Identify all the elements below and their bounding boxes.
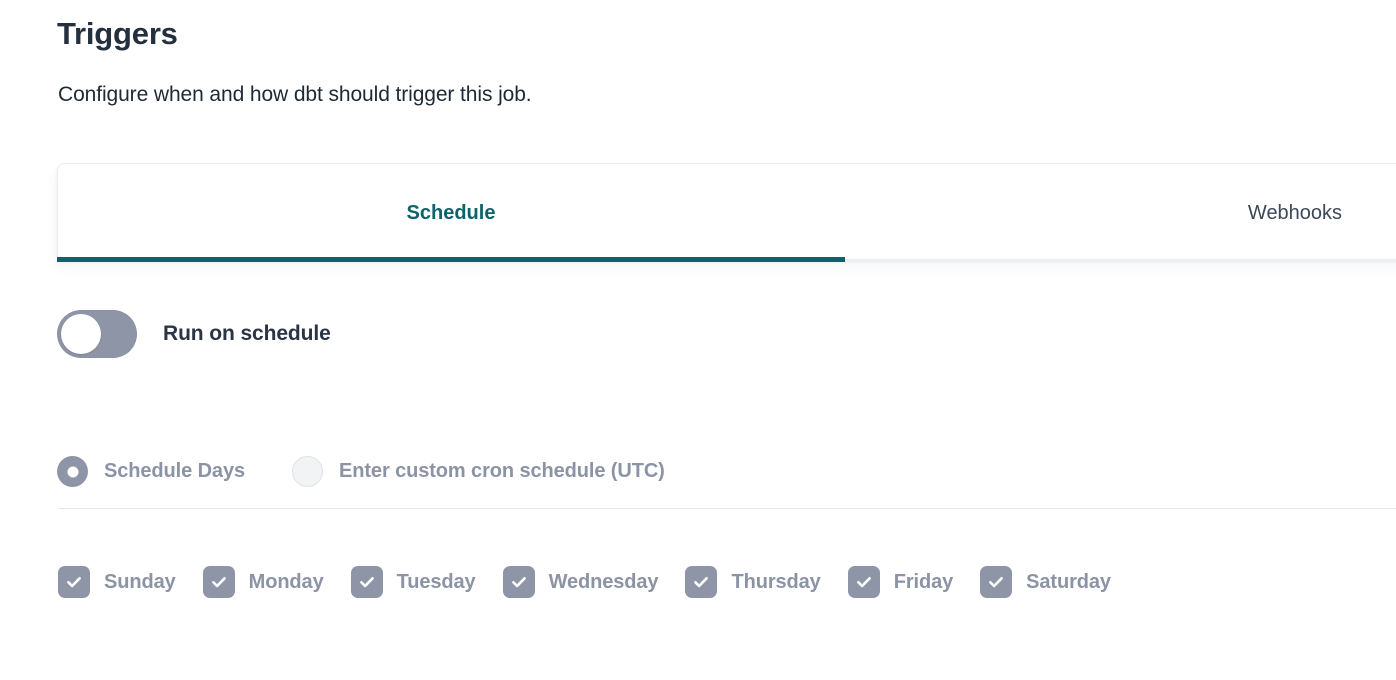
day-label-saturday: Saturday <box>1026 571 1111 594</box>
radio-unchecked-icon[interactable] <box>292 456 323 487</box>
checkbox-checked-icon[interactable] <box>848 566 880 598</box>
checkbox-checked-icon[interactable] <box>58 566 90 598</box>
day-label-wednesday: Wednesday <box>549 571 659 594</box>
triggers-page: Triggers Configure when and how dbt shou… <box>0 0 1396 680</box>
tab-webhooks[interactable]: Webhooks <box>845 163 1396 263</box>
checkbox-checked-icon[interactable] <box>685 566 717 598</box>
active-tab-indicator <box>57 257 845 262</box>
day-option-tuesday[interactable]: Tuesday <box>351 566 476 598</box>
checkbox-checked-icon[interactable] <box>203 566 235 598</box>
page-title: Triggers <box>57 12 178 56</box>
day-label-sunday: Sunday <box>104 571 176 594</box>
run-on-schedule-label: Run on schedule <box>163 322 331 346</box>
tab-bar: Schedule Webhooks <box>57 163 1396 267</box>
toggle-knob <box>61 314 101 354</box>
day-option-sunday[interactable]: Sunday <box>58 566 176 598</box>
schedule-mode-radio-group: Schedule Days Enter custom cron schedule… <box>57 456 665 487</box>
tab-webhooks-label: Webhooks <box>1248 202 1342 225</box>
run-on-schedule-row: Run on schedule <box>57 310 331 358</box>
radio-label-schedule-days: Schedule Days <box>104 460 245 483</box>
checkbox-checked-icon[interactable] <box>503 566 535 598</box>
day-label-friday: Friday <box>894 571 953 594</box>
day-label-thursday: Thursday <box>731 571 820 594</box>
day-option-wednesday[interactable]: Wednesday <box>503 566 659 598</box>
day-option-saturday[interactable]: Saturday <box>980 566 1111 598</box>
radio-checked-icon[interactable] <box>57 456 88 487</box>
radio-option-custom-cron[interactable]: Enter custom cron schedule (UTC) <box>292 456 665 487</box>
day-option-friday[interactable]: Friday <box>848 566 953 598</box>
section-divider <box>58 508 1396 509</box>
checkbox-checked-icon[interactable] <box>351 566 383 598</box>
radio-option-schedule-days[interactable]: Schedule Days <box>57 456 245 487</box>
tab-schedule[interactable]: Schedule <box>57 163 845 263</box>
radio-label-custom-cron: Enter custom cron schedule (UTC) <box>339 460 665 483</box>
run-on-schedule-toggle[interactable] <box>57 310 137 358</box>
tab-bar-baseline <box>845 259 1396 261</box>
day-option-monday[interactable]: Monday <box>203 566 324 598</box>
day-label-monday: Monday <box>249 571 324 594</box>
day-option-thursday[interactable]: Thursday <box>685 566 820 598</box>
tab-schedule-label: Schedule <box>407 202 496 225</box>
schedule-days-group: Sunday Monday Tuesday <box>58 566 1111 598</box>
checkbox-checked-icon[interactable] <box>980 566 1012 598</box>
page-subtitle: Configure when and how dbt should trigge… <box>58 80 532 110</box>
day-label-tuesday: Tuesday <box>397 571 476 594</box>
